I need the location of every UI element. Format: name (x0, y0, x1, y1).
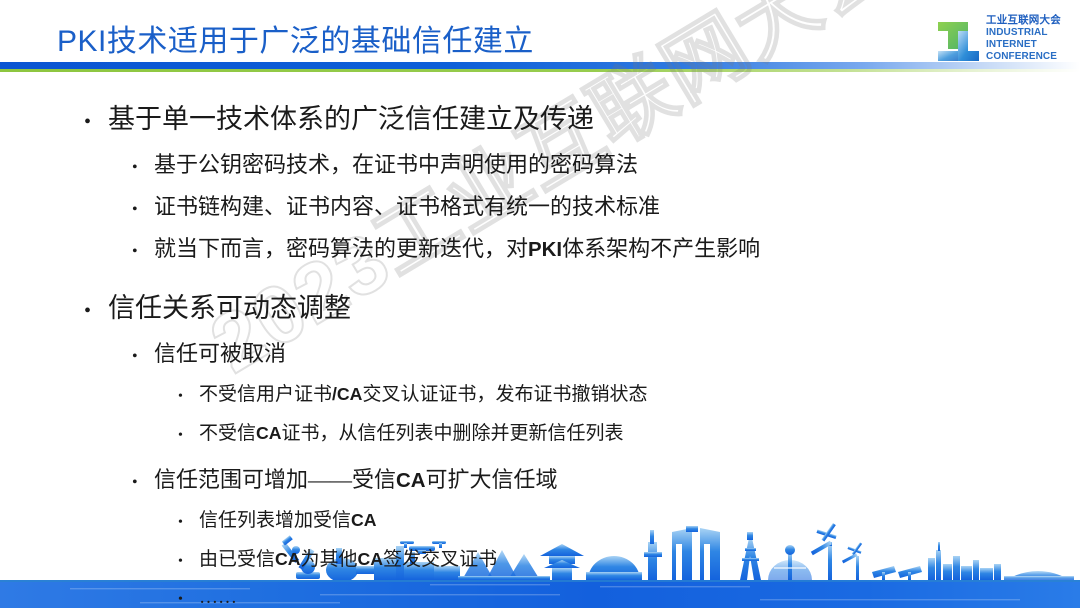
bullet-item-l3: •由已受信CA为其他CA签发交叉证书 (178, 541, 1080, 580)
divider-blue-bar (0, 62, 1080, 69)
bullet-marker-icon: • (178, 544, 199, 580)
latin-run: CA (396, 469, 426, 492)
latin-run: CA (358, 549, 384, 569)
slide-header: PKI技术适用于广泛的基础信任建立 (0, 0, 1080, 76)
bullet-item-l2: •基于公钥密码技术，在证书中声明使用的密码算法 (132, 145, 1080, 187)
bullet-item-l2: •证书链构建、证书内容、证书格式有统一的技术标准 (132, 187, 1080, 229)
bullet-marker-icon: • (132, 232, 154, 271)
bullet-item-l1: •基于单一技术体系的广泛信任建立及传递 (84, 96, 1080, 145)
bullet-marker-icon: • (84, 288, 108, 334)
logo-line-conference: CONFERENCE (986, 51, 1072, 63)
divider-green-bar (0, 69, 1080, 72)
bullet-item-l2: •就当下而言，密码算法的更新迭代，对PKI体系架构不产生影响 (132, 229, 1080, 271)
logo-text-block: 工业互联网大会 INDUSTRIAL INTERNET CONFERENCE (986, 14, 1072, 63)
bullet-item-l1: •信任关系可动态调整 (84, 285, 1080, 334)
bullet-item-l3: •信任列表增加受信CA (178, 502, 1080, 541)
bullet-text: 基于单一技术体系的广泛信任建立及传递 (108, 96, 594, 142)
bullet-item-l3: •不受信CA证书，从信任列表中删除并更新信任列表 (178, 415, 1080, 454)
bullet-text: 信任列表增加受信CA (199, 502, 377, 539)
bullet-text: 就当下而言，密码算法的更新迭代，对PKI体系架构不产生影响 (154, 229, 760, 269)
bullet-marker-icon: • (178, 505, 199, 541)
bullet-marker-icon: • (132, 337, 154, 376)
conference-logo: 工业互联网大会 INDUSTRIAL INTERNET CONFERENCE (936, 14, 1072, 68)
bullet-marker-icon: • (132, 148, 154, 187)
bullet-item-l2: •信任范围可增加——受信CA可扩大信任域 (132, 460, 1080, 502)
latin-run: CA (256, 423, 282, 443)
bullet-marker-icon: • (178, 379, 199, 415)
bullet-text: 信任关系可动态调整 (108, 285, 351, 331)
bullet-text: 基于公钥密码技术，在证书中声明使用的密码算法 (154, 145, 638, 184)
bullet-marker-icon: • (84, 99, 108, 145)
bullet-item-l3: •不受信用户证书/CA交叉认证证书，发布证书撤销状态 (178, 376, 1080, 415)
bullet-text: 不受信CA证书，从信任列表中删除并更新信任列表 (199, 415, 624, 452)
slide-body: •基于单一技术体系的广泛信任建立及传递•基于公钥密码技术，在证书中声明使用的密码… (0, 96, 1080, 536)
slide-canvas: PKI技术适用于广泛的基础信任建立 (0, 0, 1080, 608)
title-divider (0, 62, 1080, 72)
bullet-text: 由已受信CA为其他CA签发交叉证书 (199, 541, 497, 578)
logo-mark-icon (936, 18, 980, 64)
bullet-text: 不受信用户证书/CA交叉认证证书，发布证书撤销状态 (199, 376, 647, 413)
latin-run: PKI (528, 238, 562, 261)
page-title: PKI技术适用于广泛的基础信任建立 (57, 16, 534, 60)
latin-run: /CA (332, 384, 362, 404)
bullet-text: 证书链构建、证书内容、证书格式有统一的技术标准 (154, 187, 660, 226)
bullet-item-l2: •信任可被取消 (132, 334, 1080, 376)
bullet-text: 信任可被取消 (154, 334, 286, 373)
bullet-marker-icon: • (132, 190, 154, 229)
bullet-text: …… (199, 580, 237, 608)
bullet-item-l3: •…… (178, 580, 1080, 608)
logo-chinese-name: 工业互联网大会 (986, 14, 1072, 27)
bullet-marker-icon: • (178, 418, 199, 454)
latin-run: CA (351, 510, 377, 530)
bullet-marker-icon: • (178, 582, 199, 608)
bullet-text: 信任范围可增加——受信CA可扩大信任域 (154, 460, 558, 500)
bullet-marker-icon: • (132, 463, 154, 502)
latin-run: CA (275, 549, 301, 569)
logo-line-industrial: INDUSTRIAL (986, 27, 1072, 39)
logo-line-internet: INTERNET (986, 39, 1072, 51)
